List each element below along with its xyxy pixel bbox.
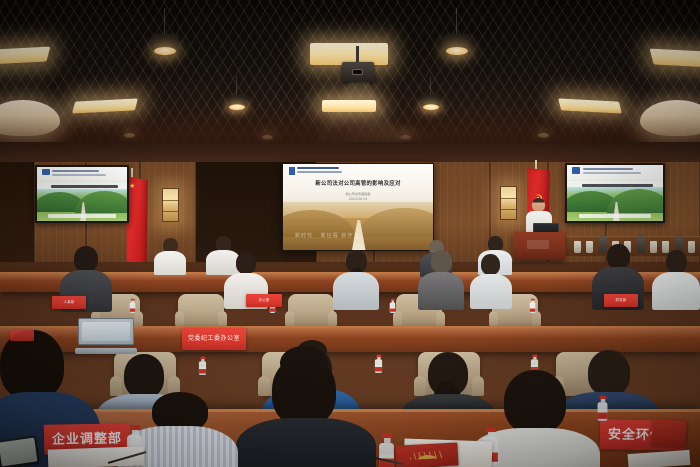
main-projection-screen: 新公司法对公司高管的影响及应对 新公司法专题讲座 2024.06.19 新时代 … (282, 163, 434, 251)
company-name-line (583, 168, 633, 170)
water-bottle (199, 357, 206, 375)
water-bottle (598, 396, 608, 421)
attendee-person (652, 250, 700, 308)
attendee-person (418, 250, 464, 308)
slide-bottom-caption (579, 214, 652, 218)
ceiling-panel-light (650, 48, 700, 67)
slide-landscape-image (37, 189, 127, 221)
company-name-en (297, 171, 342, 173)
company-logo-icon (42, 169, 50, 175)
cylinder-pendant-light (152, 34, 178, 55)
slide-title: 新公司法对公司高管的影响及应对 (298, 181, 418, 187)
wall-sconce (162, 188, 179, 222)
grid-ceiling (0, 0, 700, 150)
company-name-line (52, 170, 99, 172)
speaker-podium (513, 232, 565, 260)
cylinder-pendant-light (422, 95, 441, 110)
wall-header-band (0, 142, 700, 164)
slide-header (37, 167, 127, 182)
slide-bottom-caption (48, 214, 116, 218)
ceiling-projector (342, 62, 374, 82)
wall-sconce (500, 186, 517, 220)
name-placard: 办公室 (246, 294, 282, 307)
red-folder (651, 419, 687, 447)
company-logo-icon (289, 167, 295, 176)
attendee-person-foreground (236, 356, 376, 467)
attendee-person (333, 250, 379, 308)
chair (288, 294, 334, 326)
right-projection-screen (565, 163, 665, 223)
cylinder-pendant-light (444, 34, 470, 55)
slide-landscape-image (567, 187, 663, 221)
attendee-person (154, 238, 186, 274)
company-subname-line (52, 174, 106, 176)
attendee-person (470, 254, 512, 308)
folder-crest-icon (409, 451, 444, 460)
company-logo-icon (572, 167, 581, 173)
slide-caption: 新时代 · 新征程 新作为 (295, 232, 359, 239)
slide-date: 2024.06.19 (331, 197, 385, 201)
name-placard (10, 330, 34, 341)
podium-emblem (527, 240, 549, 249)
red-folder (395, 442, 458, 467)
chair (178, 294, 224, 326)
water-bottle (130, 299, 136, 313)
smartphone (0, 435, 40, 467)
name-placard: 人事部 (52, 296, 86, 309)
name-placard: 党委纪工委办公室 (182, 328, 246, 350)
name-placard: 财务部 (604, 294, 638, 307)
cylinder-pendant-light (228, 95, 247, 110)
conference-room-photo: ★ ☭ (0, 0, 700, 467)
water-bottle (390, 299, 396, 313)
slide-header (567, 165, 663, 181)
slide-landscape-image: 新时代 · 新征程 新作为 (283, 202, 433, 250)
wall-dark-recess (0, 162, 34, 274)
company-subname-line (583, 172, 641, 174)
left-projection-screen (35, 165, 129, 223)
slide-subtitle: 新公司法专题讲座 (328, 191, 388, 196)
water-bottle (530, 299, 536, 313)
